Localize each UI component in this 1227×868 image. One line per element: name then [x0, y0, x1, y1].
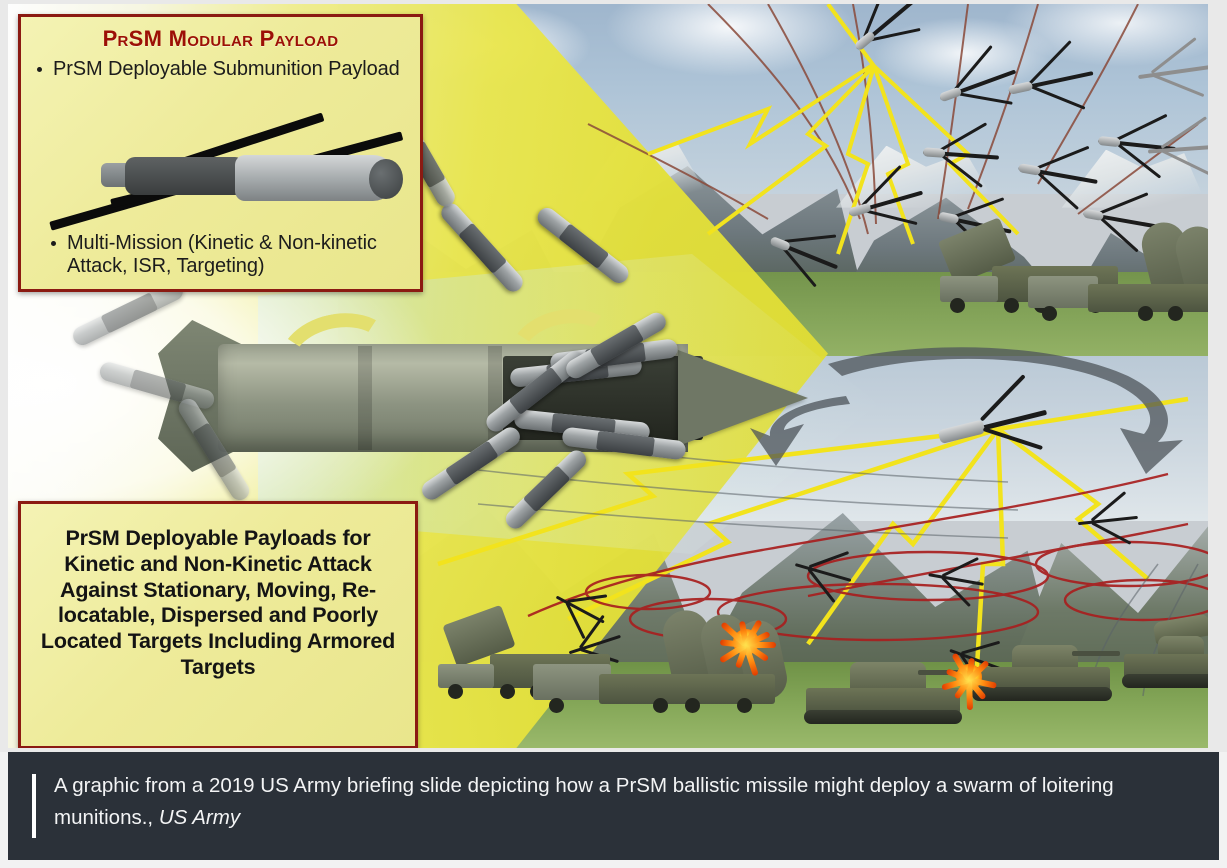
wheel — [653, 698, 668, 713]
wheel — [1168, 306, 1183, 321]
nose — [848, 203, 872, 218]
sam-launcher-vehicle — [1028, 222, 1208, 342]
wheel — [448, 684, 463, 699]
callout-body-text: PrSM Deployable Payloads for Kinetic and… — [31, 526, 405, 681]
briefing-slide-graphic: PrSM Modular Payload PrSM Deployable Sub… — [0, 0, 1227, 752]
fuselage — [928, 573, 984, 586]
wheel — [500, 684, 515, 699]
payload-end-cap — [369, 159, 403, 199]
fuselage — [1138, 65, 1208, 79]
wheel — [950, 298, 965, 313]
nose — [769, 236, 791, 252]
loitering-munition — [922, 131, 1001, 178]
submunition-payload-illustration — [39, 113, 409, 233]
callout-bullet-list-2: Multi-Mission (Kinetic & Non-kinetic Att… — [35, 232, 410, 277]
cab — [940, 276, 998, 302]
spaag-vehicle — [1118, 614, 1208, 706]
wing — [862, 209, 917, 225]
explosion-effect — [934, 642, 1004, 712]
callout-title: PrSM Modular Payload — [21, 26, 420, 52]
caption-text: A graphic from a 2019 US Army briefing s… — [54, 770, 1193, 834]
gun-barrel — [1072, 651, 1120, 656]
callout-deployable-payloads: PrSM Deployable Payloads for Kinetic and… — [18, 501, 418, 748]
nose — [923, 147, 946, 158]
fuselage — [1148, 144, 1208, 153]
cab — [438, 664, 494, 688]
wheel — [737, 698, 752, 713]
wheel — [549, 698, 564, 713]
caption-accent-rule — [32, 774, 36, 838]
wheel — [685, 698, 700, 713]
fuselage — [1078, 516, 1138, 525]
turret — [1158, 636, 1204, 656]
loitering-munition — [1076, 501, 1139, 541]
fuselage — [795, 563, 852, 582]
graphic-canvas: PrSM Modular Payload PrSM Deployable Sub… — [8, 4, 1208, 748]
page-root: PrSM Modular Payload PrSM Deployable Sub… — [0, 0, 1227, 868]
callout-bullet-list: PrSM Deployable Submunition Payload — [21, 58, 420, 80]
loitering-munition — [1147, 126, 1208, 171]
caption-source: US Army — [159, 806, 240, 829]
callout-modular-payload: PrSM Modular Payload PrSM Deployable Sub… — [18, 14, 423, 292]
bullet-item: Multi-Mission (Kinetic & Non-kinetic Att… — [49, 232, 400, 277]
bullet-item: PrSM Deployable Submunition Payload — [35, 58, 410, 80]
image-caption-bar: A graphic from a 2019 US Army briefing s… — [8, 752, 1219, 860]
payload-mid-section — [125, 157, 245, 195]
nose — [939, 86, 963, 102]
nose-cone — [678, 350, 808, 446]
wheel — [1004, 298, 1019, 313]
track — [1122, 674, 1208, 688]
nose — [1098, 136, 1121, 147]
nose — [938, 419, 986, 444]
track — [804, 710, 962, 724]
explosion-effect — [708, 604, 784, 680]
wing — [983, 427, 1043, 450]
wheel — [1138, 306, 1153, 321]
wheel — [1042, 306, 1057, 321]
